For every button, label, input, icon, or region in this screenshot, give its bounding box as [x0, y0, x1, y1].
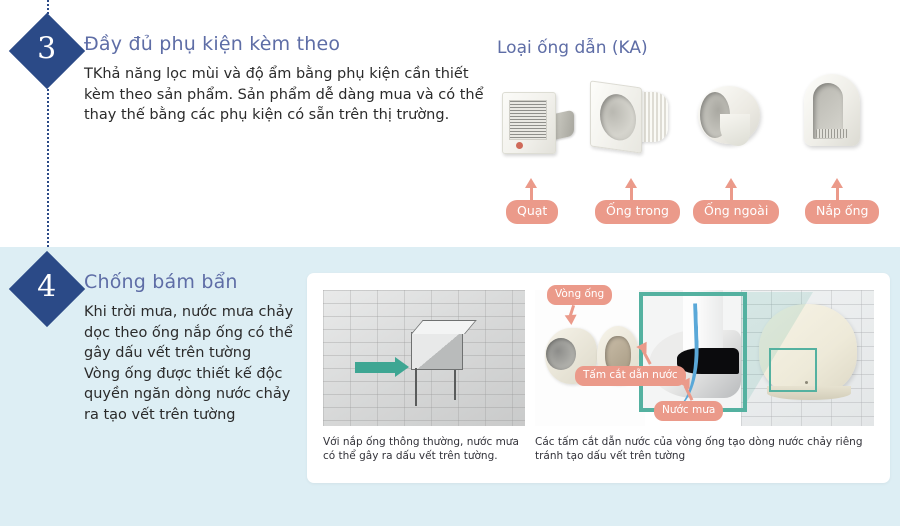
step-badge-4: 4 — [9, 251, 85, 327]
section-3-title: Đầy đủ phụ kiện kèm theo — [84, 33, 340, 55]
section-4-anti-stain: 4 Chống bám bẩn Khi trời mưa, nước mưa c… — [0, 247, 900, 526]
water-streak-left — [415, 368, 417, 406]
callout-label-ring: Vòng ống — [547, 285, 612, 305]
flow-arrow-icon — [355, 362, 395, 373]
callout-label-rainwater: Nước mưa — [654, 401, 723, 421]
water-streak-right — [454, 370, 456, 400]
timeline-dotted-line-bottom — [47, 82, 49, 247]
product-label-fan: Quạt — [506, 200, 558, 224]
left-photo-caption: Với nắp ống thông thường, nước mưa có th… — [323, 435, 528, 464]
section-3-accessories: 3 Đầy đủ phụ kiện kèm theo TKhả năng lọc… — [0, 0, 900, 247]
product-label-duct-cap: Nắp ống — [805, 200, 879, 224]
pointer-arrow-inner-duct — [625, 178, 637, 188]
pointer-arrow-fan — [525, 178, 537, 188]
duct-hood-icon — [804, 74, 860, 146]
fan-indicator-icon — [516, 142, 523, 149]
zoom-frame-small — [769, 348, 817, 392]
comparison-panel: Với nắp ống thông thường, nước mưa có th… — [307, 273, 890, 483]
conventional-cap-icon — [411, 332, 463, 370]
product-duct-cap — [800, 70, 880, 166]
product-label-inner-duct: Ống trong — [595, 200, 680, 224]
product-fan-unit — [502, 80, 582, 170]
product-inner-duct — [590, 78, 680, 170]
zoom-frame-large — [639, 292, 747, 412]
fan-grille-icon — [509, 100, 547, 140]
ring-part-a-opening-icon — [546, 338, 576, 370]
fan-body-icon — [502, 92, 556, 154]
pointer-arrow-outer-duct — [725, 178, 737, 188]
hood-mesh-icon — [816, 129, 848, 138]
flange-opening-icon — [600, 92, 636, 143]
section-4-title: Chống bám bẩn — [84, 271, 238, 293]
step-badge-3: 3 — [9, 13, 85, 89]
section-3-body: TKhả năng lọc mùi và độ ẩm bằng phụ kiện… — [84, 64, 484, 126]
pointer-arrow-duct-cap — [831, 178, 843, 188]
ring-parts-backdrop — [535, 290, 645, 426]
step-number-4: 4 — [37, 273, 56, 305]
duct-type-subtitle: Loại ống dẫn (KA) — [497, 38, 648, 58]
product-outer-duct — [694, 76, 784, 170]
product-label-outer-duct: Ống ngoài — [693, 200, 779, 224]
section-4-body: Khi trời mưa, nước mưa chảy dọc theo ống… — [84, 302, 299, 425]
right-photo-caption: Các tấm cắt dẫn nước của vòng ống tạo dò… — [535, 435, 885, 464]
callout-label-cut-plate: Tấm cắt dẫn nước — [575, 366, 686, 386]
square-flange-icon — [590, 80, 642, 153]
pointer-arrow-ring — [565, 315, 578, 326]
photo-conventional-cap — [323, 290, 525, 426]
step-number-3: 3 — [37, 35, 56, 67]
